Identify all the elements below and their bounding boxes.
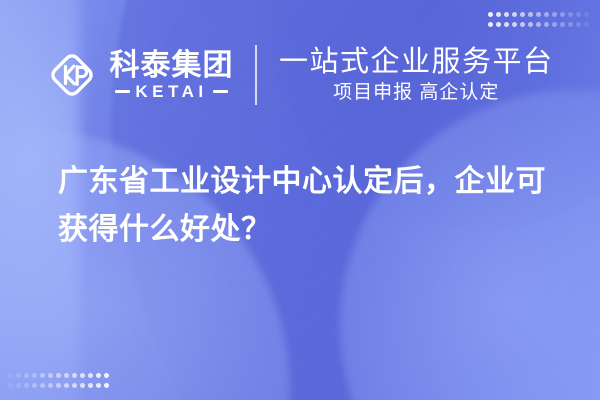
decor-dot — [8, 383, 13, 388]
decor-dot — [80, 373, 85, 378]
decor-dot — [80, 383, 85, 388]
decor-dot — [64, 383, 69, 388]
brand-lockup: 科泰集团 KETAI — [46, 49, 233, 101]
slogan-secondary: 项目申报 高企认定 — [333, 83, 499, 102]
decor-dot — [104, 373, 109, 378]
decor-dot — [64, 373, 69, 378]
decor-dot — [16, 373, 21, 378]
decor-dot — [88, 373, 93, 378]
brand-name-en: KETAI — [135, 83, 207, 100]
dot-row — [8, 383, 112, 388]
dot-row — [8, 373, 112, 378]
decor-dot — [48, 383, 53, 388]
decor-dot — [32, 383, 37, 388]
vertical-divider-icon — [255, 45, 257, 105]
ketai-diamond-kp-logo-icon — [46, 49, 98, 101]
decor-dot — [104, 383, 109, 388]
promo-banner: 科泰集团 KETAI 一站式企业服务平台 项目申报 高企认定 广东省工业设计中心… — [0, 0, 600, 400]
page-title: 广东省工业设计中心认定后，企业可获得什么好处？ — [58, 158, 558, 254]
decor-dot — [72, 373, 77, 378]
decor-dot — [40, 373, 45, 378]
banner-header: 科泰集团 KETAI 一站式企业服务平台 项目申报 高企认定 — [0, 0, 600, 150]
brand-wordmark: 科泰集团 KETAI — [109, 51, 233, 100]
dot-grid-bottom-left — [8, 373, 112, 388]
decor-dot — [88, 383, 93, 388]
decor-dot — [96, 383, 101, 388]
slogan-block: 一站式企业服务平台 项目申报 高企认定 — [279, 48, 554, 102]
decor-dot — [8, 373, 13, 378]
decor-dot — [96, 373, 101, 378]
decor-dot — [48, 373, 53, 378]
decor-dot — [24, 373, 29, 378]
slogan-primary: 一站式企业服务平台 — [279, 48, 554, 77]
decor-dot — [32, 373, 37, 378]
decor-dot — [24, 383, 29, 388]
brand-dash-right-icon — [213, 90, 228, 93]
decor-dot — [16, 383, 21, 388]
brand-name-cn: 科泰集团 — [109, 51, 233, 81]
decor-dot — [56, 373, 61, 378]
decor-dot — [40, 383, 45, 388]
decor-dot — [56, 383, 61, 388]
brand-dash-left-icon — [115, 90, 130, 93]
brand-name-en-row: KETAI — [109, 83, 233, 100]
decor-dot — [72, 383, 77, 388]
